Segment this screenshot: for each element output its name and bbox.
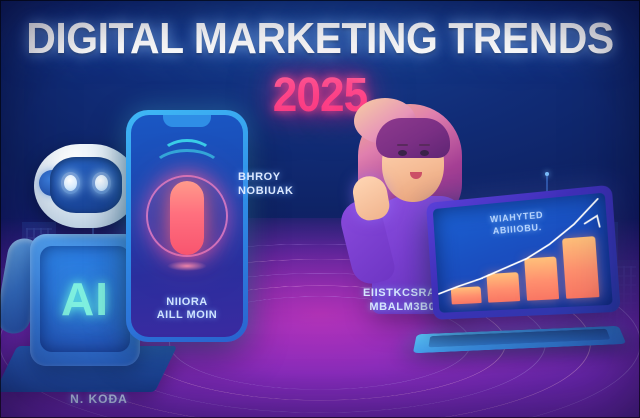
phone-caption-line2: AILL MOIN bbox=[131, 309, 243, 323]
robot-caption: N. KOĐA bbox=[14, 392, 184, 406]
laptop-keyboard bbox=[428, 329, 610, 348]
year-badge: 2025 bbox=[26, 72, 615, 120]
eyebrow-left bbox=[397, 144, 408, 146]
phone-notch bbox=[163, 115, 211, 127]
poster-canvas: DIGITAL MARKETING TRENDS 2025 AI N. KOĐA bbox=[0, 0, 640, 418]
phone-caption: NIIORA AILL MOIN bbox=[131, 296, 243, 324]
eyebrow-right bbox=[419, 144, 430, 146]
side-label-line2: NOBIUAK bbox=[238, 184, 294, 198]
side-label-line1: BHROY bbox=[238, 170, 294, 184]
phone-caption-line1: NIIORA bbox=[131, 296, 243, 310]
hair-front bbox=[376, 118, 450, 158]
robot-chest-screen: AI bbox=[40, 246, 130, 352]
robot-head bbox=[34, 144, 138, 228]
laptop-analytics[interactable]: WIAHYTED ABIIIOBU. bbox=[416, 194, 624, 360]
side-label: BHROY NOBIUAK bbox=[238, 170, 294, 199]
eye-right bbox=[420, 150, 429, 156]
robot-face bbox=[50, 157, 122, 213]
robot-eye-right bbox=[92, 172, 111, 194]
phone-screen: NIIORA AILL MOIN bbox=[131, 115, 243, 337]
robot-eye-left bbox=[61, 172, 80, 194]
eye-left bbox=[398, 150, 407, 156]
page-title: DIGITAL MARKETING TRENDS bbox=[22, 17, 617, 61]
sound-wave-icon bbox=[161, 139, 213, 171]
smartphone-voice-search[interactable]: NIIORA AILL MOIN bbox=[126, 110, 248, 342]
laptop-screen: WIAHYTED ABIIIOBU. bbox=[433, 193, 613, 313]
laptop-lid: WIAHYTED ABIIIOBU. bbox=[426, 185, 621, 320]
trend-line-icon bbox=[433, 193, 613, 313]
microphone-glow bbox=[167, 261, 207, 271]
laptop-base bbox=[413, 326, 626, 353]
robot-body: AI bbox=[30, 234, 140, 366]
ai-label: AI bbox=[61, 272, 109, 326]
microphone-icon bbox=[170, 181, 204, 255]
